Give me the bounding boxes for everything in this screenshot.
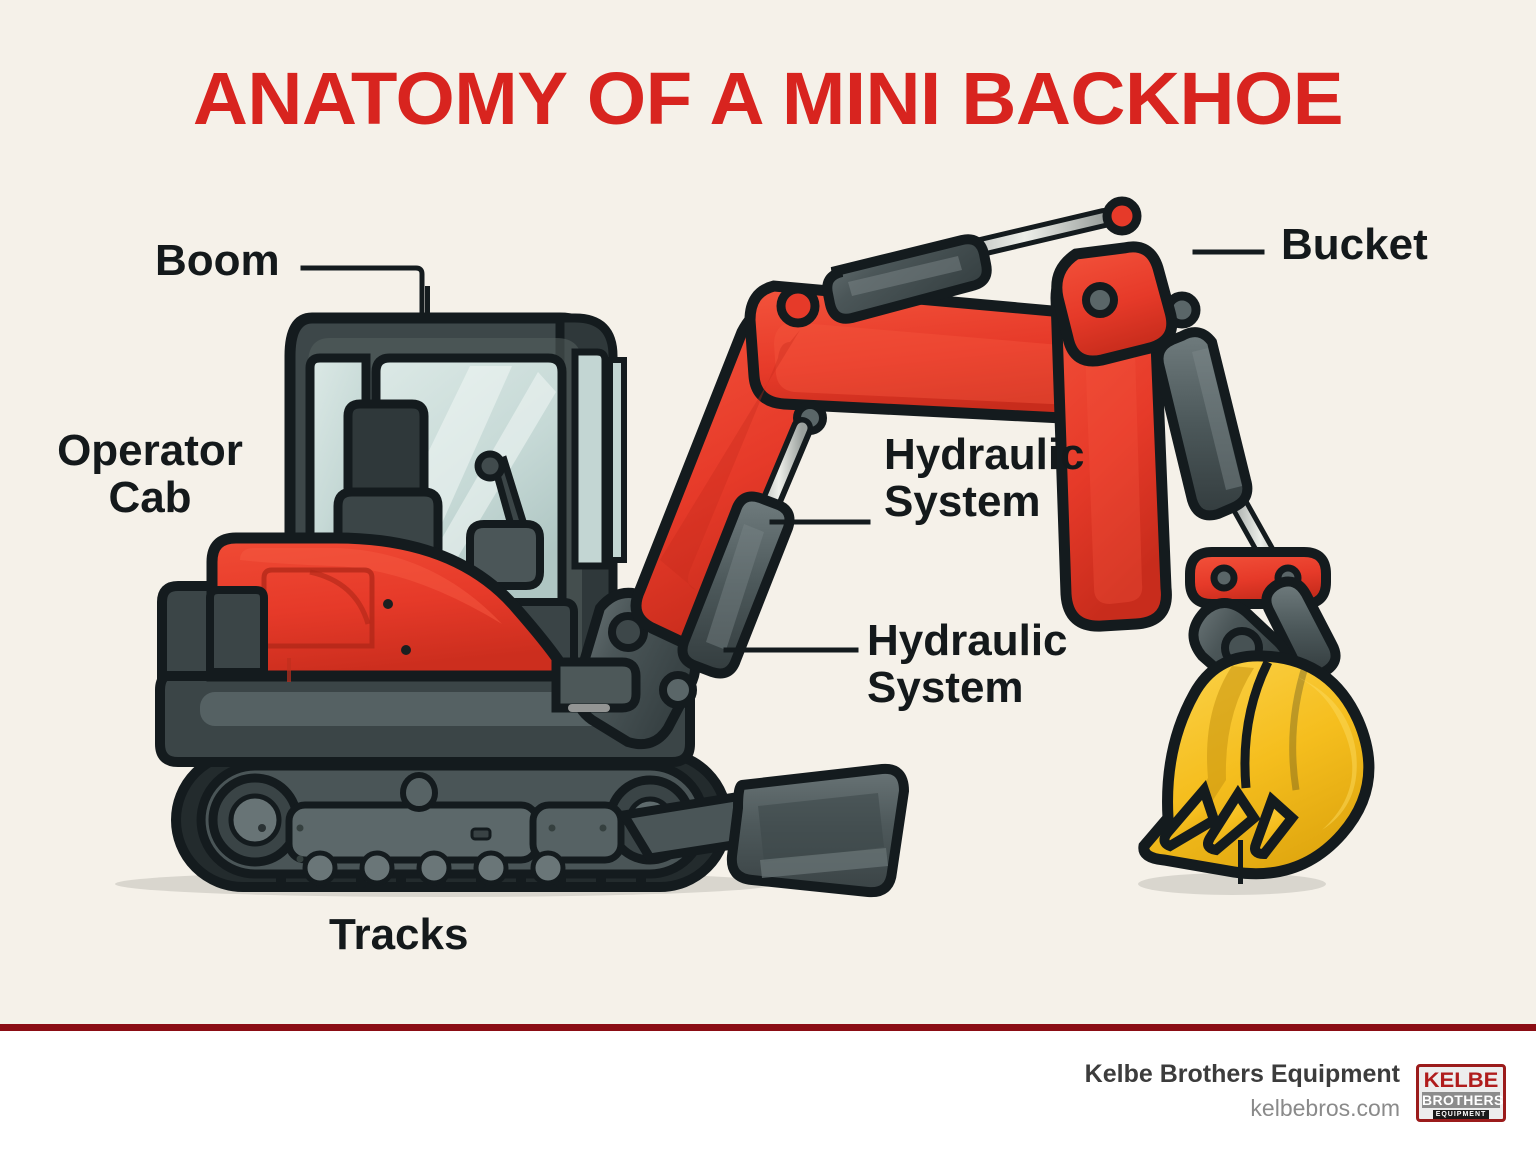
logo-line-brothers: BROTHERS bbox=[1422, 1092, 1500, 1108]
footer-website-url: kelbebros.com bbox=[1250, 1095, 1400, 1122]
label-operator-cab: Operator Cab bbox=[45, 428, 255, 521]
logo-frame: KELBE BROTHERS EQUIPMENT bbox=[1416, 1064, 1506, 1122]
bucket bbox=[1144, 656, 1369, 884]
kelbe-brothers-logo: KELBE BROTHERS EQUIPMENT bbox=[1416, 1064, 1506, 1122]
boom-stick-knuckle bbox=[1057, 247, 1172, 361]
footer-divider bbox=[0, 1024, 1536, 1031]
label-hydraulic-system-1: Hydraulic System bbox=[884, 432, 1085, 525]
logo-line-kelbe: KELBE bbox=[1417, 1069, 1505, 1093]
label-hydraulic-system-2: Hydraulic System bbox=[867, 618, 1068, 711]
logo-line-equipment: EQUIPMENT bbox=[1433, 1110, 1489, 1120]
footer-bar bbox=[0, 1031, 1536, 1154]
footer-brand-name: Kelbe Brothers Equipment bbox=[1085, 1060, 1400, 1089]
label-bucket: Bucket bbox=[1281, 222, 1428, 269]
label-tracks: Tracks bbox=[329, 912, 468, 959]
infographic-page: ANATOMY OF A MINI BACKHOE bbox=[0, 0, 1536, 1154]
label-boom: Boom bbox=[155, 238, 280, 285]
